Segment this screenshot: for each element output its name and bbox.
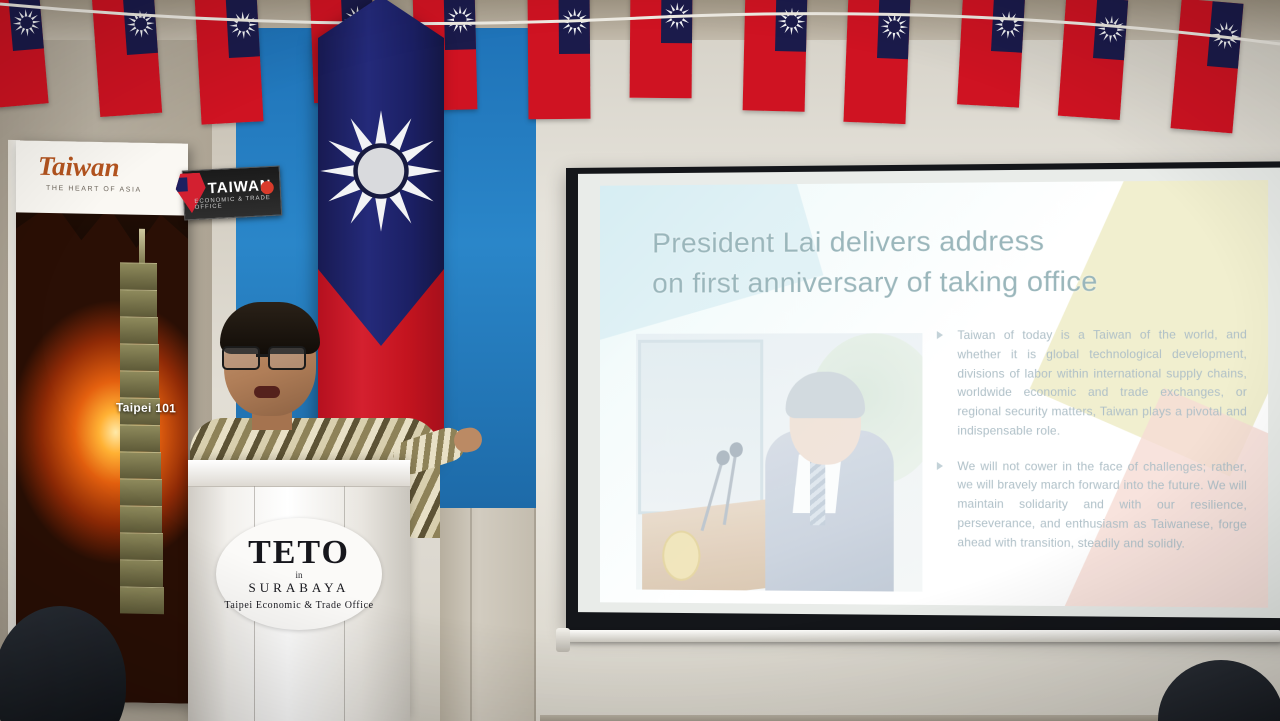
taipei-101-segment [120,505,162,533]
eyeglasses-right-lens [268,346,306,370]
screen-surface: President Lai delivers address on first … [578,167,1280,618]
presentation-slide: President Lai delivers address on first … [600,180,1268,608]
taipei-101-spire [139,229,145,265]
taipei-101-segment [120,262,157,290]
taipei-101-segment [120,343,159,371]
plaque-title: TETO [216,534,382,572]
slide-bullet-list: Taiwan of today is a Taiwan of the world… [935,326,1247,571]
taipei-101-segment [120,451,161,479]
white-sun-emblem [315,105,447,237]
slide-title-line-1: President Lai delivers address [652,220,1186,264]
banner-landmark-label: Taipei 101 [116,400,176,415]
taipei-101-segment [120,370,159,398]
plaque-city: SURABAYA [216,580,382,596]
eyeglasses-bridge [256,354,268,357]
banner-headline: Taiwan [38,151,120,184]
plaque-office-name: Taipei Economic & Trade Office [216,600,382,611]
slide-bullet: We will not cower in the face of challen… [935,458,1247,555]
photo-necktie [810,459,825,526]
slide-bullet: Taiwan of today is a Taiwan of the world… [935,326,1247,442]
speaker-mouth [254,386,280,398]
screen-roller-cap [556,628,570,652]
slide-bullet-text: Taiwan of today is a Taiwan of the world… [957,328,1247,438]
taiwan-logo-badge: TAIWAN ECONOMIC & TRADE OFFICE [182,165,282,220]
taipei-101-segment [120,532,163,560]
taipei-101-segment [120,316,158,344]
eyeglasses-left-lens [222,346,260,370]
taiwan-flag-bunting [0,0,1280,120]
bullet-marker-icon [937,331,943,339]
conference-room-photo: Taiwan THE HEART OF ASIA Taipei 101 TAIW… [0,0,1280,721]
screen-roller-bar [560,630,1280,642]
lectern-top-surface [188,460,410,487]
taipei-101-illustration [120,262,164,663]
slide-title-line-2: on first anniversary of taking office [652,260,1186,303]
photo-window [638,340,763,515]
bullet-marker-icon [937,462,943,470]
photo-lectern-seal [662,531,700,581]
lectern: TETO in SURABAYA Taipei Economic & Trade… [188,460,410,721]
plaque-in-word: in [216,570,382,580]
taipei-101-segment [120,424,160,452]
slide-bullet-text: We will not cower in the face of challen… [957,460,1247,551]
taipei-101-segment [120,586,164,614]
teto-plaque: TETO in SURABAYA Taipei Economic & Trade… [216,518,382,630]
slide-title: President Lai delivers address on first … [652,220,1186,304]
taipei-101-segment [120,559,163,587]
slide-photo-president-lai [636,333,922,592]
taipei-101-segment [120,289,157,317]
projection-screen: President Lai delivers address on first … [566,161,1280,637]
taipei-101-segment [120,478,162,506]
